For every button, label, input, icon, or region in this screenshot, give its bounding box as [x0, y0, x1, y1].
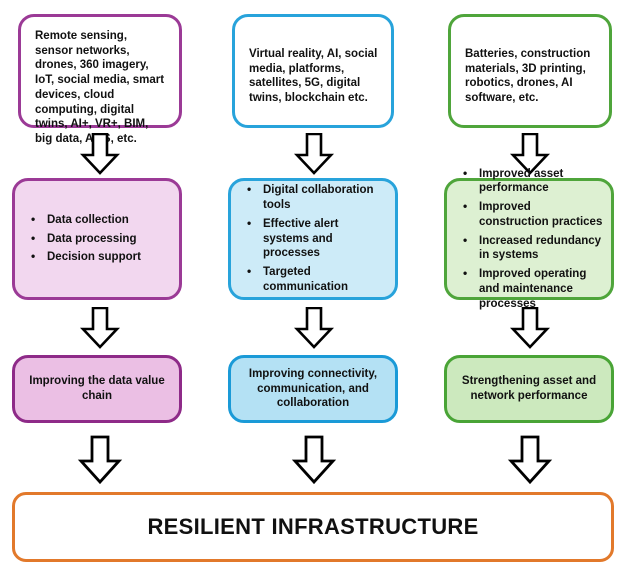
list-item: Improved operating and maintenance proce… [479, 267, 603, 311]
list-item: Improved asset performance [479, 167, 603, 196]
capabilities-box-asset-column: Improved asset performance Improved cons… [444, 178, 614, 300]
down-arrow-data-3 [76, 435, 124, 485]
outcome-box-asset-column-text: Strengthening asset and network performa… [461, 374, 597, 403]
list-item: Digital collaboration tools [263, 183, 387, 212]
down-arrow-data-1 [79, 133, 121, 175]
list-item: Effective alert systems and processes [263, 217, 387, 261]
tech-box-asset-column: Batteries, construction materials, 3D pr… [448, 14, 612, 128]
list-item: Decision support [47, 250, 141, 265]
down-arrow-connectivity-2 [293, 307, 335, 349]
tech-box-data-column-text: Remote sensing, sensor networks, drones,… [35, 27, 167, 147]
outcome-box-asset-column: Strengthening asset and network performa… [444, 355, 614, 423]
outcome-box-connectivity-column: Improving connectivity, communication, a… [228, 355, 398, 423]
capabilities-list-connectivity-column: Digital collaboration tools Effective al… [237, 183, 387, 294]
outcome-box-data-column: Improving the data value chain [12, 355, 182, 423]
tech-box-connectivity-column: Virtual reality, AI, social media, platf… [232, 14, 394, 128]
resilient-infrastructure-banner-text: RESILIENT INFRASTRUCTURE [147, 514, 478, 540]
outcome-box-data-column-text: Improving the data value chain [29, 374, 165, 403]
capabilities-list-data-column: Data collection Data processing Decision… [21, 213, 141, 265]
list-item: Data processing [47, 232, 141, 247]
list-item: Improved construction practices [479, 200, 603, 229]
tech-box-data-column: Remote sensing, sensor networks, drones,… [18, 14, 182, 128]
capabilities-box-connectivity-column: Digital collaboration tools Effective al… [228, 178, 398, 300]
capabilities-box-data-column: Data collection Data processing Decision… [12, 178, 182, 300]
list-item: Increased redundancy in systems [479, 234, 603, 263]
down-arrow-data-2 [79, 307, 121, 349]
down-arrow-asset-2 [509, 307, 551, 349]
tech-box-connectivity-column-text: Virtual reality, AI, social media, platf… [249, 27, 379, 106]
down-arrow-connectivity-3 [290, 435, 338, 485]
resilient-infrastructure-banner: RESILIENT INFRASTRUCTURE [12, 492, 614, 562]
list-item: Data collection [47, 213, 141, 228]
down-arrow-asset-3 [506, 435, 554, 485]
list-item: Targeted communication [263, 265, 387, 294]
tech-box-asset-column-text: Batteries, construction materials, 3D pr… [465, 27, 597, 106]
outcome-box-connectivity-column-text: Improving connectivity, communication, a… [245, 367, 381, 411]
down-arrow-connectivity-1 [293, 133, 335, 175]
diagram-canvas: Remote sensing, sensor networks, drones,… [0, 0, 624, 575]
capabilities-list-asset-column: Improved asset performance Improved cons… [453, 167, 603, 311]
